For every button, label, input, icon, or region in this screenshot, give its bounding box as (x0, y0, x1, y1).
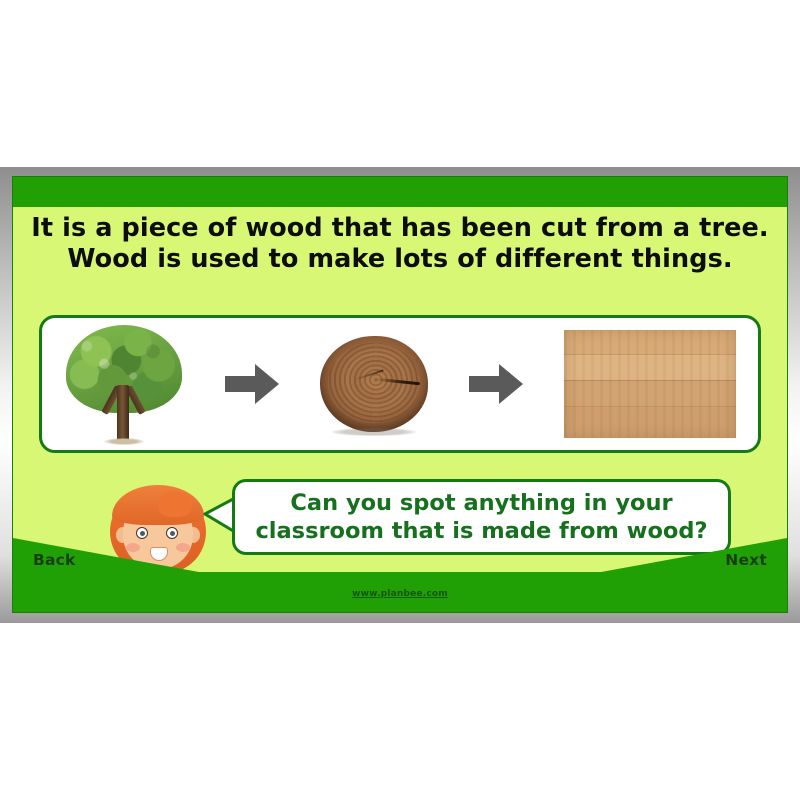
character-cheek-right (176, 543, 190, 552)
character-hair-fringe (112, 485, 204, 525)
screenshot-root: It is a piece of wood that has been cut … (0, 0, 800, 800)
log-shadow (332, 428, 416, 436)
slide-inner-border: It is a piece of wood that has been cut … (12, 176, 788, 613)
tree-photo (64, 323, 184, 445)
log-illustration (320, 336, 428, 432)
slide-frame: It is a piece of wood that has been cut … (0, 167, 800, 623)
speech-bubble-tail (202, 497, 236, 533)
headline-line-1: It is a piece of wood that has been cut … (13, 213, 787, 244)
process-card (39, 315, 761, 453)
headline: It is a piece of wood that has been cut … (13, 213, 787, 275)
back-button[interactable]: Back (33, 551, 76, 569)
next-button[interactable]: Next (725, 551, 767, 569)
character-eye-left (136, 527, 148, 539)
slide-top-band (13, 177, 787, 207)
question-line-1: Can you spot anything in your (255, 489, 707, 517)
tree-trunk (117, 385, 129, 441)
site-url-link[interactable]: www.planbee.com (13, 589, 787, 599)
headline-line-2: Wood is used to make lots of different t… (13, 244, 787, 275)
arrow-right-icon (225, 362, 279, 406)
planks-illustration (564, 330, 736, 438)
character-cheek-left (126, 543, 140, 552)
wooden-planks-photo (564, 330, 736, 438)
tree-illustration (64, 323, 184, 445)
character-eye-right (166, 527, 178, 539)
tree-ground-shadow (104, 438, 144, 445)
speech-bubble-text: Can you spot anything in your classroom … (255, 489, 707, 545)
question-line-2: classroom that is made from wood? (255, 517, 707, 545)
slide-canvas: It is a piece of wood that has been cut … (13, 177, 787, 612)
speech-bubble: Can you spot anything in your classroom … (232, 479, 731, 555)
log-cross-section-photo (320, 336, 428, 432)
arrow-right-icon-2 (469, 362, 523, 406)
arrow-right-icon (469, 362, 523, 406)
arrow-right-icon-1 (225, 362, 279, 406)
